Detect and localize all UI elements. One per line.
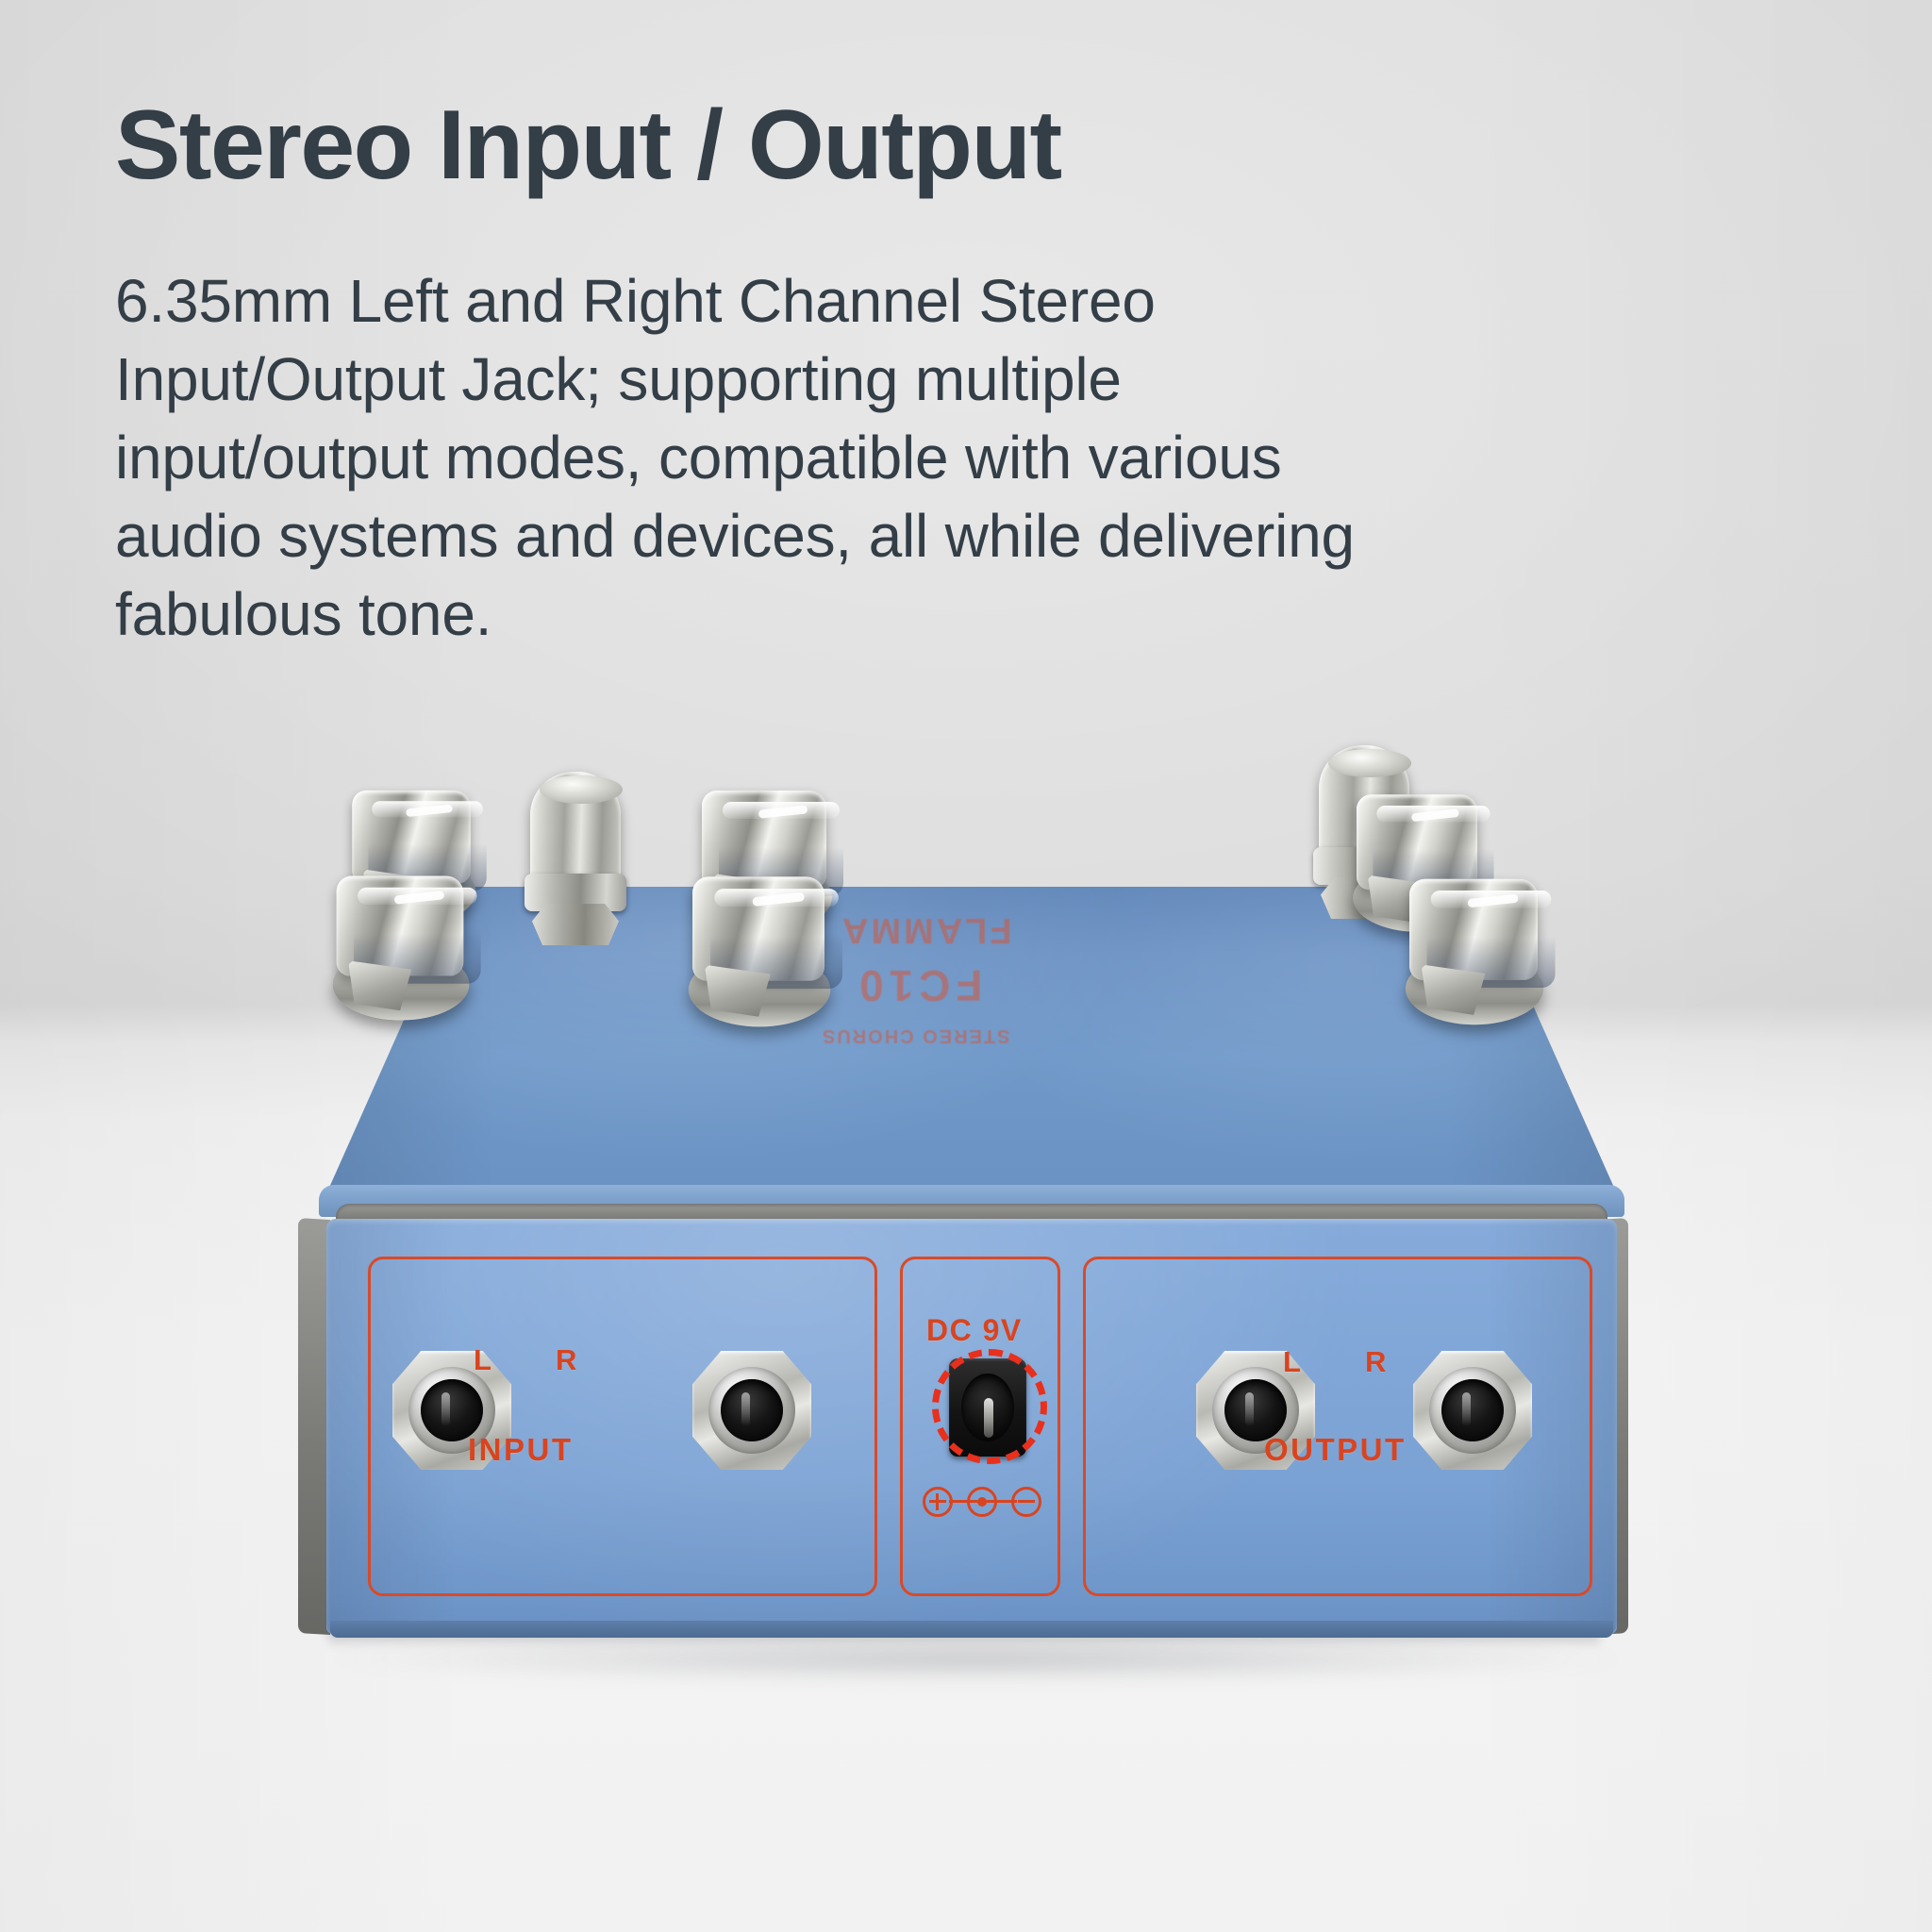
body-description: 6.35mm Left and Right Channel Stereo Inp… <box>115 262 1436 654</box>
output-label: OUTPUT <box>1264 1432 1407 1468</box>
top-panel-model-silkscreen: FC10 <box>854 960 982 1011</box>
left-footswitch[interactable] <box>525 772 626 951</box>
control-knob-2[interactable] <box>319 868 480 1031</box>
pedal-bottom-edge <box>330 1621 1613 1638</box>
jack-hole <box>1441 1379 1504 1441</box>
dc-highlight-circle <box>932 1349 1047 1464</box>
marketing-copy-block: Stereo Input / Output 6.35mm Left and Ri… <box>115 91 1823 654</box>
jack-glint <box>1462 1392 1471 1426</box>
knob-cap <box>337 875 464 975</box>
control-knob-6[interactable] <box>1391 871 1555 1036</box>
dc-power-label: DC 9V <box>926 1313 1023 1348</box>
polarity-diagram <box>923 1483 1045 1521</box>
top-panel-sub-silkscreen: STEREO CHORUS <box>821 1024 1009 1046</box>
polarity-minus-icon <box>1011 1487 1041 1517</box>
footswitch-cap-top <box>540 775 623 804</box>
pedal-floor-shadow <box>292 1641 1660 1698</box>
polarity-center-icon <box>967 1487 997 1517</box>
input-label: INPUT <box>468 1432 574 1468</box>
knob-cap <box>692 876 824 980</box>
input-right-jack[interactable] <box>692 1351 811 1470</box>
control-knob-4[interactable] <box>675 869 842 1039</box>
page-title: Stereo Input / Output <box>115 91 1823 200</box>
product-photo-pedal: FLAMMA FC10 STEREO CHORUS <box>311 887 1632 1736</box>
jack-glint <box>441 1392 450 1426</box>
output-right-jack[interactable] <box>1413 1351 1532 1470</box>
output-channel-labels: L R <box>1283 1345 1414 1379</box>
chassis-left-edge <box>298 1218 330 1635</box>
input-channel-labels: L R <box>474 1343 605 1377</box>
knob-cap <box>1409 879 1538 980</box>
jack-glint <box>741 1392 750 1426</box>
jack-glint <box>1245 1392 1254 1426</box>
footswitch-nut <box>532 904 619 945</box>
jack-hole <box>721 1379 783 1441</box>
polarity-plus-icon <box>923 1487 953 1517</box>
footswitch-cap-top <box>1328 749 1411 777</box>
footswitch-cap <box>530 772 621 883</box>
